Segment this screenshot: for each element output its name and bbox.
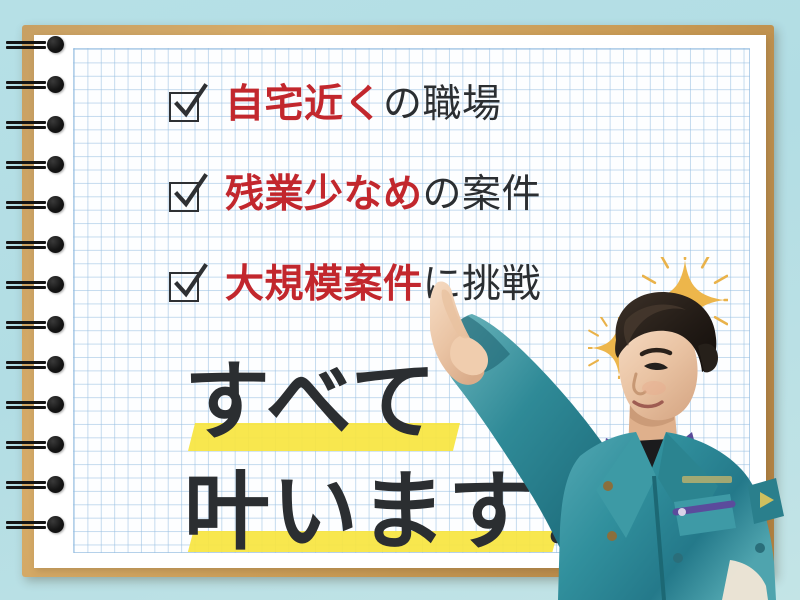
checklist-item-2[interactable]: 残業少なめの案件 [169,149,739,239]
checklist-item-tail: の案件 [423,173,542,216]
check-mark-icon [171,264,207,302]
checklist-item-highlight: 自宅近く [225,83,383,126]
spiral-ring [6,36,64,53]
spiral-ring [6,476,64,493]
spiral-ring [6,436,64,453]
checklist-item-highlight: 大規模案件 [225,263,423,306]
checklist-item-text: 自宅近くの職場 [225,85,502,124]
sparkle-small-icon [588,317,650,379]
checklist-item-text: 大規模案件に挑戦 [225,265,541,304]
spiral-ring [6,516,64,533]
checklist-item-tail: の職場 [383,83,502,126]
spiral-ring [6,156,64,173]
slogan-line-2: 叶います！ [184,469,614,553]
slogan-text-2: 叶います！ [184,469,614,553]
spiral-ring [6,236,64,253]
spiral-ring [6,276,64,293]
checked-box-icon[interactable] [169,178,203,212]
check-mark-icon [171,174,207,212]
spiral-ring [6,316,64,333]
checklist-item-text: 残業少なめの案件 [225,175,541,214]
checklist-item-1[interactable]: 自宅近くの職場 [169,59,739,149]
spiral-binding [0,36,70,566]
spiral-ring [6,116,64,133]
poster-canvas: 自宅近くの職場 残業少なめの案件 大規模案件に挑戦 [0,0,800,600]
sparkle-large-icon [642,257,728,343]
checked-box-icon[interactable] [169,268,203,302]
slogan-line-1: すべて [184,359,614,469]
slogan-block: すべて 叶います！ [184,359,614,553]
spiral-ring [6,396,64,413]
checklist-item-tail: に挑戦 [423,263,542,306]
spiral-ring [6,76,64,93]
spiral-ring [6,196,64,213]
checklist-item-highlight: 残業少なめ [225,173,423,216]
slogan-text-1: すべて [184,359,614,445]
spiral-ring [6,356,64,373]
check-mark-icon [171,84,207,122]
grid-ruled-area: 自宅近くの職場 残業少なめの案件 大規模案件に挑戦 [73,48,750,553]
checked-box-icon[interactable] [169,88,203,122]
